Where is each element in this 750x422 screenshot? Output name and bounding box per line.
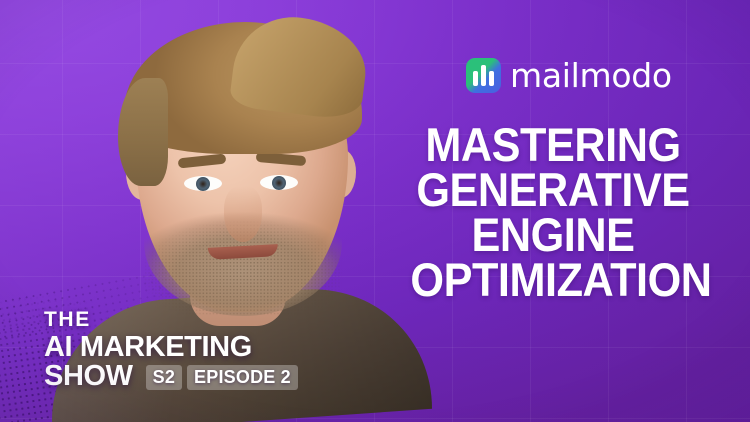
title-line-2: GENERATIVE [410,167,695,212]
episode-badge: EPISODE 2 [187,365,298,390]
portrait-eye-left [184,176,222,191]
video-thumbnail: mailmodo MASTERING GENERATIVE ENGINE OPT… [0,0,750,422]
episode-badges: S2 EPISODE 2 [146,365,298,390]
season-badge: S2 [146,365,182,390]
logo-bar-3 [489,71,494,86]
title-line-1: MASTERING [410,122,695,167]
portrait-nose [224,186,262,242]
mailmodo-logo-icon [466,58,501,93]
brand-name: mailmodo [510,59,672,92]
logo-bars [466,58,501,93]
logo-bar-2 [481,65,486,86]
show-name-line-1: AI MARKETING [44,333,298,363]
portrait-eye-right [260,175,298,190]
brand-logo: mailmodo [466,58,672,93]
logo-bar-1 [473,71,478,86]
show-prefix: THE [44,309,298,330]
show-name-row: SHOW S2 EPISODE 2 [44,362,298,392]
portrait-iris-left [196,177,210,191]
title-line-3: ENGINE [410,212,695,257]
show-name-line-2: SHOW [44,362,133,392]
episode-title: MASTERING GENERATIVE ENGINE OPTIMIZATION [398,122,708,302]
title-line-4: OPTIMIZATION [410,257,695,302]
portrait-hair-side [118,78,168,186]
show-branding: THE AI MARKETING SHOW S2 EPISODE 2 [44,309,298,392]
portrait-iris-right [272,176,286,190]
